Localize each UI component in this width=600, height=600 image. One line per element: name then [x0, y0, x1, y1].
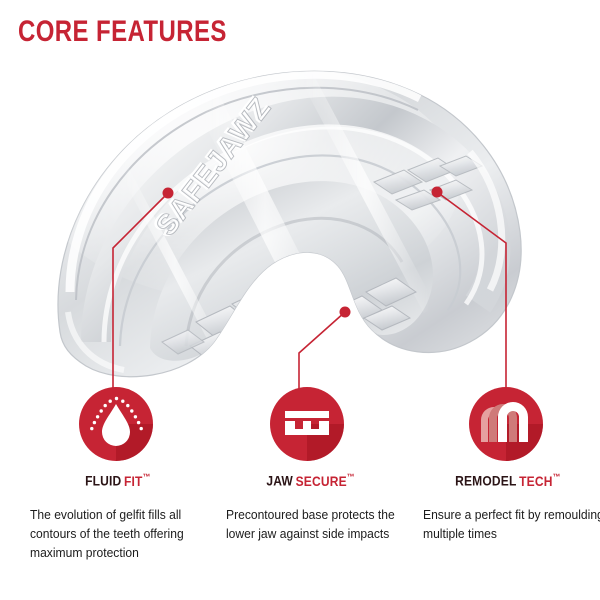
- water-drop-icon: [78, 386, 154, 462]
- jaw-teeth-icon: [269, 386, 345, 462]
- core-features-page: CORE FEATURES: [0, 0, 600, 600]
- trademark-symbol: ™: [553, 472, 561, 482]
- feature-label-primary: REMODEL: [455, 473, 516, 489]
- feature-description-jaw-secure: Precontoured base protects the lower jaw…: [226, 505, 412, 543]
- feature-label-secondary: SECURE: [296, 473, 347, 489]
- feature-label-jaw-secure: JAWSECURE™: [226, 472, 395, 489]
- trademark-symbol: ™: [347, 472, 355, 482]
- feature-label-primary: FLUID: [85, 473, 121, 489]
- feature-jaw-secure[interactable]: JAWSECURE™ Precontoured base protects th…: [213, 386, 409, 543]
- feature-label-secondary: TECH: [519, 473, 552, 489]
- feature-label-secondary: FIT: [124, 473, 143, 489]
- trademark-symbol: ™: [143, 472, 151, 482]
- nested-arches-icon: [468, 386, 544, 462]
- tread-blocks-center: [330, 278, 416, 364]
- feature-label-fluid-fit: FLUIDFIT™: [33, 472, 202, 489]
- feature-label-primary: JAW: [266, 473, 293, 489]
- feature-fluid-fit[interactable]: FLUIDFIT™ The evolution of gelfit fills …: [20, 386, 216, 562]
- feature-label-remodel-tech: REMODELTECH™: [423, 472, 592, 489]
- product-hero-image: SAFEJAWZ SAFEJAWZ: [0, 42, 600, 392]
- mouthguard-body: SAFEJAWZ SAFEJAWZ: [40, 62, 521, 377]
- feature-description-fluid-fit: The evolution of gelfit fills all contou…: [30, 505, 216, 562]
- features-row: FLUIDFIT™ The evolution of gelfit fills …: [0, 386, 600, 600]
- feature-description-remodel-tech: Ensure a perfect fit by remoulding multi…: [423, 505, 600, 543]
- feature-remodel-tech[interactable]: REMODELTECH™ Ensure a perfect fit by rem…: [410, 386, 600, 543]
